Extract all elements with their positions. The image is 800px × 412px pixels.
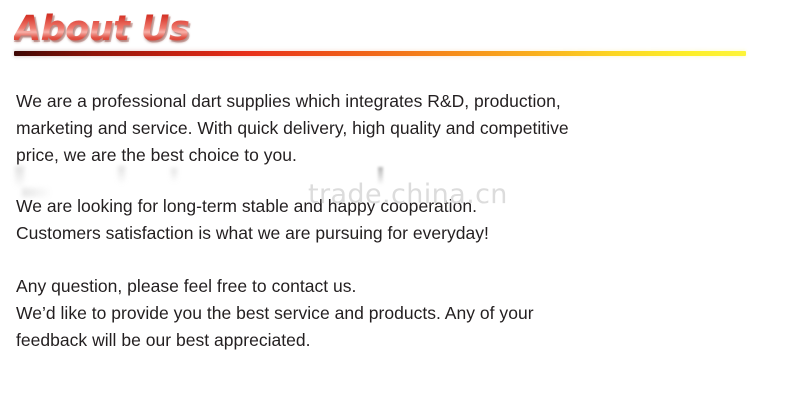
page-title-wrapper: About Us — [14, 7, 189, 51]
paragraph-line: feedback will be our best appreciated. — [16, 327, 780, 354]
paragraph-line: Customers satisfaction is what we are pu… — [16, 220, 780, 247]
watermark-tick — [378, 167, 383, 185]
paragraph-line: marketing and service. With quick delive… — [16, 115, 780, 142]
paragraph-line: Any question, please feel free to contac… — [16, 273, 780, 300]
paragraph-3: Any question, please feel free to contac… — [16, 273, 780, 354]
about-us-body: We are a professional dart supplies whic… — [16, 88, 780, 354]
about-us-page: About Us About Us We are a professional … — [0, 0, 800, 412]
paragraph-2: We are looking for long-term stable and … — [16, 193, 780, 247]
gradient-divider — [14, 51, 746, 56]
paragraph-line: We are looking for long-term stable and … — [16, 193, 780, 220]
page-title: About Us — [14, 7, 189, 51]
paragraph-1: We are a professional dart supplies whic… — [16, 88, 780, 169]
paragraph-line: We’d like to provide you the best servic… — [16, 300, 780, 327]
paragraph-line: We are a professional dart supplies whic… — [16, 88, 780, 115]
paragraph-line: price, we are the best choice to you. — [16, 142, 780, 169]
